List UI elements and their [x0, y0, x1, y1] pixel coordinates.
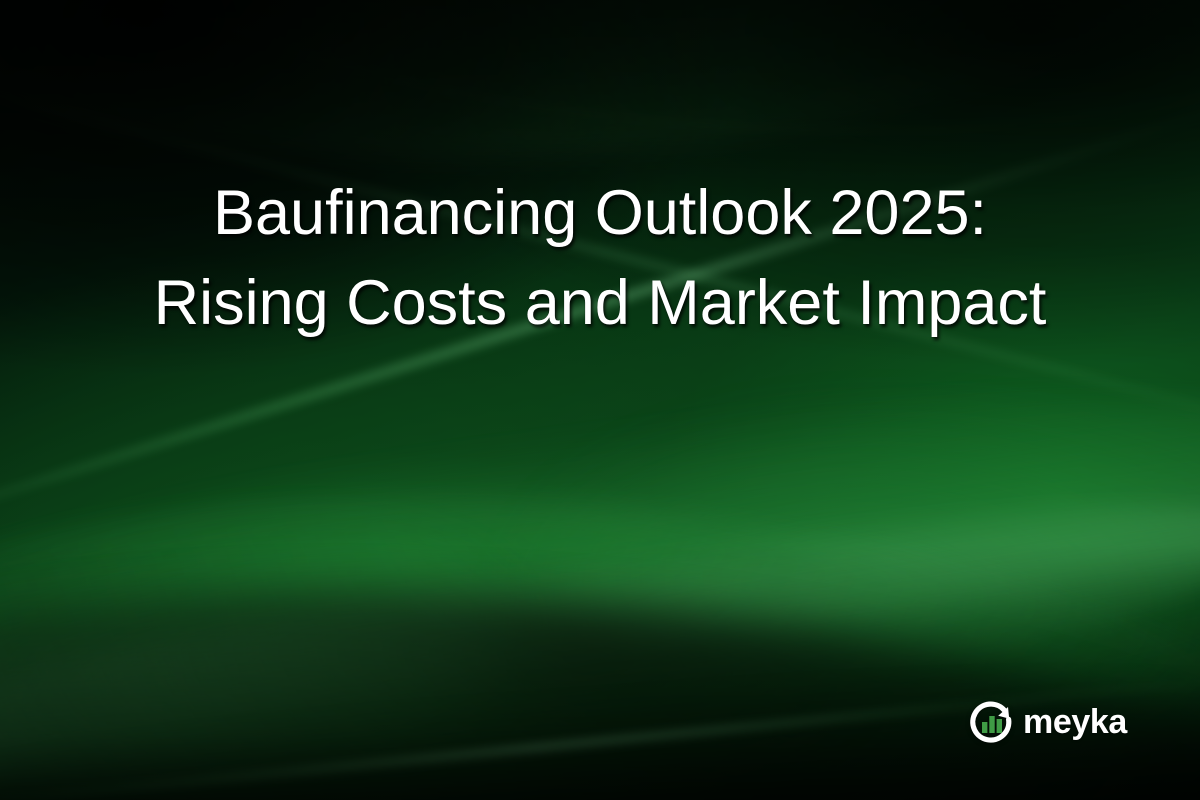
- wave-left-glow: [0, 476, 530, 800]
- circular-arrow-bar-chart-icon: [968, 698, 1016, 746]
- background-wave-group: [0, 0, 1200, 800]
- background-gradient: [0, 0, 1200, 800]
- brand-logo[interactable]: meyka: [968, 698, 1127, 746]
- wave-top-arc-secondary: [29, 0, 1200, 162]
- wave-center-sweep: [0, 448, 1200, 800]
- brand-wordmark: meyka: [1023, 705, 1127, 739]
- wave-lower-shadow: [0, 522, 1200, 800]
- wave-lower-arc: [0, 448, 1200, 800]
- page-title: Baufinancing Outlook 2025: Rising Costs …: [60, 168, 1140, 348]
- background-vignette: [0, 0, 1200, 800]
- title-block: Baufinancing Outlook 2025: Rising Costs …: [0, 168, 1200, 348]
- slide-canvas: Baufinancing Outlook 2025: Rising Costs …: [0, 0, 1200, 800]
- wave-top-arc: [0, 0, 1200, 189]
